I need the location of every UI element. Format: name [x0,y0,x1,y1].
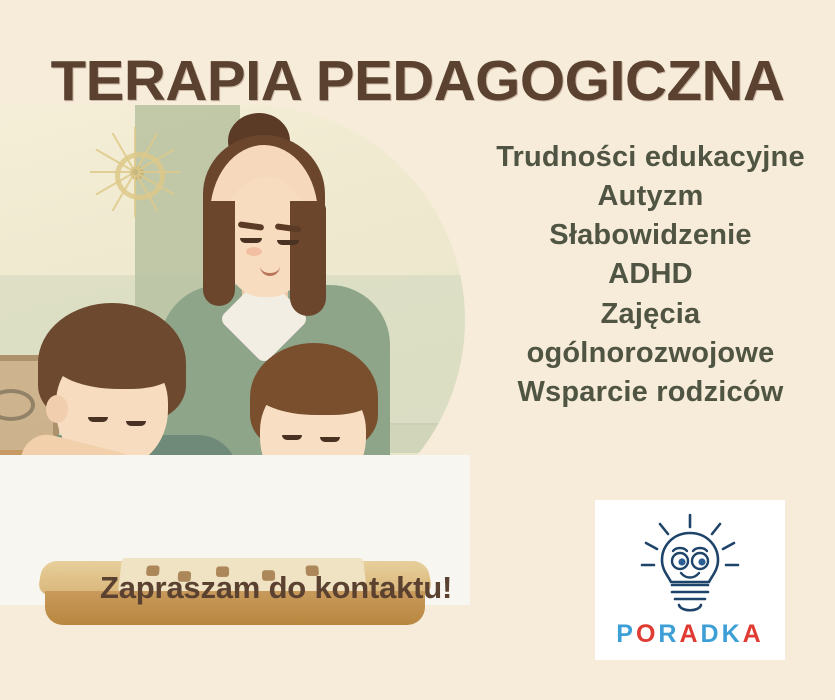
boy-left-eye-left [88,417,108,422]
smiling-lightbulb-icon [635,513,745,618]
teacher-hair-left [203,201,235,306]
service-item-0: Trudności edukacyjne [466,138,835,177]
boy-left-ear [46,395,68,423]
teacher-cheek [246,247,262,256]
poster-canvas: TERAPIA PEDAGOGICZNA Trudności edukacyjn… [0,0,835,700]
page-title: TERAPIA PEDAGOGICZNA [0,48,835,114]
boy-left-eye-right [126,421,146,426]
brand-logo-wordmark: PORADKA [616,620,763,649]
service-item-3: ADHD [466,255,835,294]
logo-letter-1: O [636,620,658,649]
logo-letter-4: D [701,620,722,649]
service-item-1: Autyzm [466,177,835,216]
logo-letter-6: A [743,620,764,649]
service-item-5: ogólnorozwojowe [466,334,835,373]
service-item-2: Słabowidzenie [466,216,835,255]
boy-right-eye-right [320,437,340,442]
logo-letter-3: A [679,620,700,649]
logo-letter-5: K [722,620,743,649]
teacher-eye-right [277,240,299,245]
services-list: Trudności edukacyjne Autyzm Słabowidzeni… [466,138,835,412]
logo-letter-0: P [616,620,636,649]
brand-logo-box: PORADKA [595,500,785,660]
teacher-hair-right [290,201,326,316]
sun-drawing-icon [90,127,180,217]
boy-right-fringe [254,367,374,415]
boy-right-eye-left [282,435,302,440]
logo-letter-2: R [658,620,679,649]
teacher-eye-left [240,238,262,243]
service-item-4: Zajęcia [466,295,835,334]
contact-cta-text: Zapraszam do kontaktu! [100,570,452,606]
service-item-6: Wsparcie rodziców [466,373,835,412]
